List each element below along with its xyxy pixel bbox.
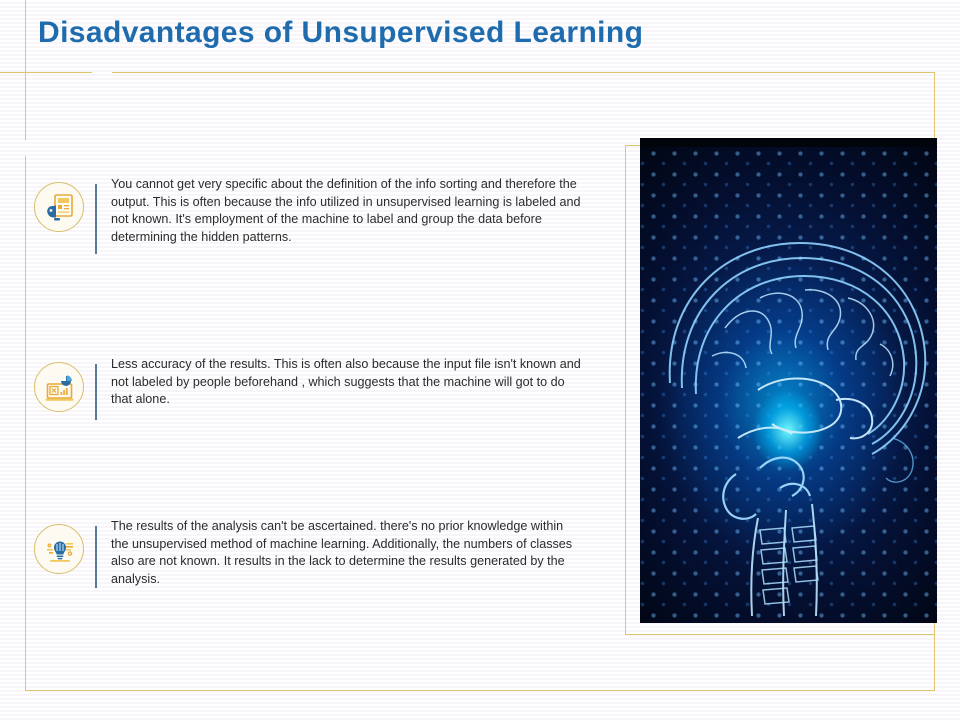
list-item: Less accuracy of the results. This is of… — [34, 350, 594, 420]
laptop-chart-icon — [34, 362, 84, 412]
document-analysis-icon — [34, 182, 84, 232]
page-title: Disadvantages of Unsupervised Learning — [38, 16, 643, 50]
list-item: You cannot get very specific about the d… — [34, 170, 594, 254]
bullet-text: Less accuracy of the results. This is of… — [111, 350, 581, 409]
divider-bottom — [25, 690, 935, 691]
divider-top-right — [112, 72, 935, 73]
image-top-band — [640, 138, 937, 147]
list-item: The results of the analysis can't be asc… — [34, 512, 594, 588]
divider-left-upper — [25, 0, 26, 140]
bullet-separator — [95, 526, 97, 588]
bullet-text: You cannot get very specific about the d… — [111, 170, 581, 246]
slide: Disadvantages of Unsupervised Learning — [0, 0, 960, 720]
brain-outline-illustration — [640, 138, 937, 623]
brain-neural-network-image — [640, 138, 937, 623]
lightbulb-circuit-icon — [34, 524, 84, 574]
divider-left-main — [25, 156, 26, 691]
bullet-text: The results of the analysis can't be asc… — [111, 512, 581, 588]
bullet-separator — [95, 184, 97, 254]
divider-top-left — [0, 72, 92, 73]
bullet-separator — [95, 364, 97, 420]
